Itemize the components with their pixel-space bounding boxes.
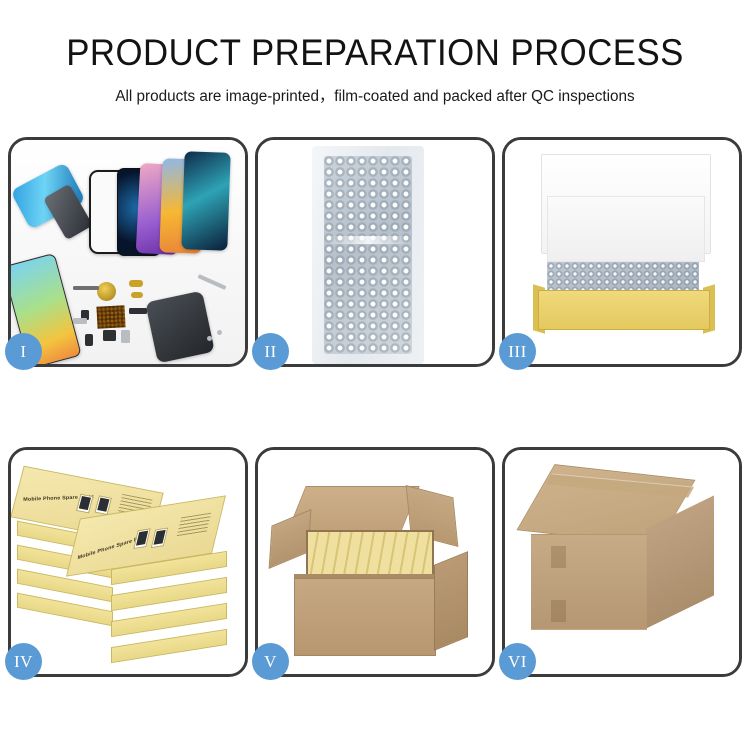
connector-grid-part: [96, 305, 125, 328]
page-subtitle: All products are image-printed，film-coat…: [6, 84, 745, 106]
tweezers-tool: [197, 274, 226, 290]
step-badge-5: V: [252, 643, 289, 680]
phone-teal-display: [181, 151, 230, 251]
bubble-wrap-highlight: [324, 236, 412, 244]
process-step-grid: I II III: [8, 137, 742, 677]
process-step-panel-3: III: [502, 137, 742, 367]
carton-front-face: [294, 578, 436, 656]
process-step-panel-1: I: [8, 137, 248, 367]
vibrator-part: [103, 330, 116, 341]
speaker-part: [73, 318, 87, 324]
carton-side-face: [434, 551, 468, 651]
screw-part: [207, 336, 212, 341]
sim-tray-part: [121, 330, 130, 343]
step-image-open-carton-filled: [258, 450, 492, 674]
process-step-panel-6: VI: [502, 447, 742, 677]
wireless-coil-part: [97, 282, 116, 301]
step-badge-2: II: [252, 333, 289, 370]
sealed-carton-front-face: [531, 534, 647, 630]
sealed-carton-handle-tab: [551, 600, 566, 622]
mailer-foam-sheet: [547, 196, 705, 262]
step-badge-6: VI: [499, 643, 536, 680]
process-step-panel-5: V: [255, 447, 495, 677]
phone-back-housing: [145, 291, 215, 364]
page-title: PRODUCT PREPARATION PROCESS: [23, 34, 728, 73]
bubble-wrap-bubbles: [324, 156, 412, 354]
process-step-panel-4: Mobile Phone Spare Parts Mobile Phone Sp…: [8, 447, 248, 677]
step-badge-1: I: [5, 333, 42, 370]
screw-part: [217, 330, 222, 335]
step-image-printed-box-stack: Mobile Phone Spare Parts Mobile Phone Sp…: [11, 450, 245, 674]
step-badge-4: IV: [5, 643, 42, 680]
sealed-carton-handle-tab: [551, 546, 566, 568]
carton-left-flap: [269, 509, 312, 569]
gold-bracket-part: [129, 280, 143, 287]
step-image-phones-and-parts: [11, 140, 245, 364]
flex-strip-part: [73, 286, 99, 290]
mailer-box-front: [538, 290, 710, 330]
process-step-panel-2: II: [255, 137, 495, 367]
flex-cable-part: [129, 308, 147, 314]
button-part: [85, 334, 93, 346]
step-image-sealed-carton: [505, 450, 739, 674]
step-badge-3: III: [499, 333, 536, 370]
gold-clip-part: [131, 292, 143, 298]
step-image-open-kraft-mailer: [505, 140, 739, 364]
page-header: PRODUCT PREPARATION PROCESS All products…: [0, 0, 750, 106]
step-image-bubble-wrap-pouch: [258, 140, 492, 364]
